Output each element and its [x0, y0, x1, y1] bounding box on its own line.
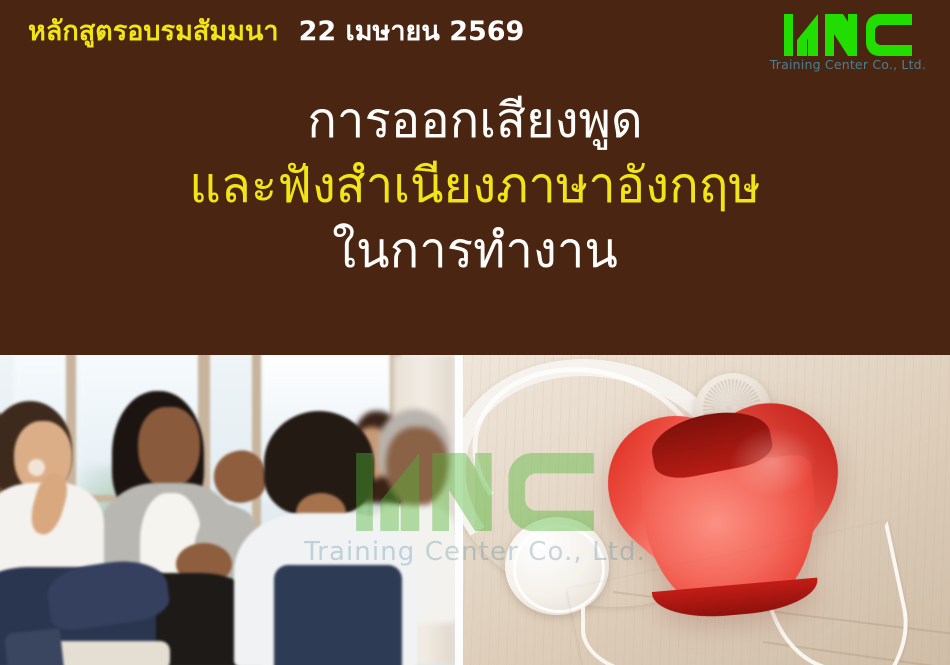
photo-divider	[455, 355, 463, 665]
photo-strip	[0, 355, 950, 665]
photo-headphones-heart	[463, 355, 950, 665]
course-poster: หลักสูตรอบรมสัมมนา 22 เมษายน 2569	[0, 0, 950, 665]
headphone-cable	[581, 603, 699, 665]
kicker-row: หลักสูตรอบรมสัมมนา 22 เมษายน 2569	[28, 18, 524, 45]
chair	[274, 565, 402, 665]
title-line-1: การออกเสียงพูด	[0, 88, 950, 153]
chair	[4, 628, 64, 665]
header-band: หลักสูตรอบรมสัมมนา 22 เมษายน 2569	[0, 0, 950, 355]
brand-logo[interactable]: Training Center Co., Ltd.	[770, 14, 926, 72]
brand-tagline: Training Center Co., Ltd.	[770, 59, 926, 72]
kicker-label: หลักสูตรอบรมสัมมนา	[28, 18, 279, 45]
title-line-2: และฟังสำเนียงภาษาอังกฤษ	[0, 153, 950, 218]
event-date: 22 เมษายน 2569	[299, 18, 525, 45]
course-title: การออกเสียงพูด และฟังสำเนียงภาษาอังกฤษ ใ…	[0, 88, 950, 283]
photo-group-discussion	[0, 355, 455, 665]
knc-logo-icon	[770, 14, 926, 56]
title-line-3: ในการทำงาน	[0, 218, 950, 283]
